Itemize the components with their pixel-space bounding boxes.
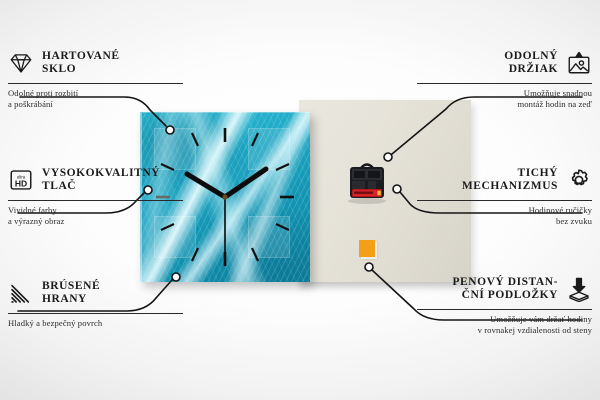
feature-desc-line2: v rovnakej vzdialenosti od steny (478, 325, 592, 335)
feature-divider (8, 200, 183, 201)
feature-title: ODOLNÝ DRŽIAK (417, 50, 558, 76)
feature-title: VYSOKOKVALITNÝ TLAČ (42, 167, 183, 193)
feature-title: BRÚSENÉ HRANY (42, 280, 183, 306)
feature-title-line2: ČNÍ PODLOŽKY (462, 289, 558, 301)
feature-header: BRÚSENÉ HRANY (8, 276, 183, 310)
feature-description: Vividné farby a výrazný obraz (8, 205, 183, 226)
feature-title: PENOVÝ DISTAN- ČNÍ PODLOŽKY (417, 276, 558, 302)
feature-title-line1: VYSOKOKVALITNÝ (42, 167, 160, 179)
feature-foam-spacers: PENOVÝ DISTAN- ČNÍ PODLOŽKY Umožňuje vám… (417, 272, 592, 335)
beveled-edge-icon (8, 280, 34, 306)
feature-title-line1: PENOVÝ DISTAN- (452, 276, 558, 288)
feature-title-line2: HRANY (42, 293, 87, 305)
feature-header: HARTOVANÉ SKLO (8, 46, 183, 80)
product-infographic: HARTOVANÉ SKLO Odolné proti rozbití a po… (0, 0, 600, 400)
feature-desc-line2: a poškrábání (8, 99, 53, 109)
feature-desc-line2: montáž hodin na zeď (517, 99, 592, 109)
feature-description: Odolné proti rozbití a poškrábání (8, 88, 183, 109)
feature-desc-line1: Umožňuje vám držať hodiny (490, 314, 592, 324)
feature-title-line1: HARTOVANÉ (42, 50, 120, 62)
svg-text:HD: HD (15, 179, 27, 189)
picture-frame-hook-icon (566, 50, 592, 76)
gear-icon (566, 167, 592, 193)
feature-title-line2: SKLO (42, 63, 76, 75)
feature-durable-holder: ODOLNÝ DRŽIAK Umožňuje snadnou montáž ho… (417, 46, 592, 109)
feature-desc-line1: Umožňuje snadnou (524, 88, 592, 98)
feature-description: Umožňuje snadnou montáž hodin na zeď (417, 88, 592, 109)
feature-header: ultra HD VYSOKOKVALITNÝ TLAČ (8, 163, 183, 197)
feature-title-line2: DRŽIAK (509, 63, 558, 75)
feature-title-line2: TLAČ (42, 180, 76, 192)
feature-description: Hodinové ručičky bez zvuku (417, 205, 592, 226)
diamond-icon (8, 50, 34, 76)
feature-desc-line2: bez zvuku (556, 216, 592, 226)
feature-header: TICHÝ MECHANIZMUS (417, 163, 592, 197)
feature-header: PENOVÝ DISTAN- ČNÍ PODLOŽKY (417, 272, 592, 306)
feature-desc-line1: Hodinové ručičky (529, 205, 592, 215)
feature-desc-line2: a výrazný obraz (8, 216, 64, 226)
feature-high-quality-print: ultra HD VYSOKOKVALITNÝ TLAČ Vividné far… (8, 163, 183, 226)
feature-divider (8, 313, 183, 314)
feature-description: Umožňuje vám držať hodiny v rovnakej vzd… (417, 314, 592, 335)
feature-desc-line1: Vividné farby (8, 205, 57, 215)
feature-description: Hladký a bezpečný povrch (8, 318, 183, 329)
feature-header: ODOLNÝ DRŽIAK (417, 46, 592, 80)
feature-ground-edges: BRÚSENÉ HRANY Hladký a bezpečný povrch (8, 276, 183, 329)
feature-title-line1: BRÚSENÉ (42, 280, 100, 292)
feature-divider (417, 309, 592, 310)
feature-title-line2: MECHANIZMUS (462, 180, 558, 192)
feature-title: TICHÝ MECHANIZMUS (417, 167, 558, 193)
feature-divider (417, 83, 592, 84)
feature-divider (8, 83, 183, 84)
feature-desc-line1: Hladký a bezpečný povrch (8, 318, 102, 328)
feature-title-line1: ODOLNÝ (504, 50, 558, 62)
feature-title-line1: TICHÝ (518, 167, 558, 179)
feature-title: HARTOVANÉ SKLO (42, 50, 183, 76)
feature-silent-mechanism: TICHÝ MECHANIZMUS Hodinové ručičky bez z… (417, 163, 592, 226)
feature-desc-line1: Odolné proti rozbití (8, 88, 78, 98)
arrow-onto-pad-icon (566, 276, 592, 302)
ultra-hd-icon: ultra HD (8, 167, 34, 193)
feature-divider (417, 200, 592, 201)
feature-tempered-glass: HARTOVANÉ SKLO Odolné proti rozbití a po… (8, 46, 183, 109)
